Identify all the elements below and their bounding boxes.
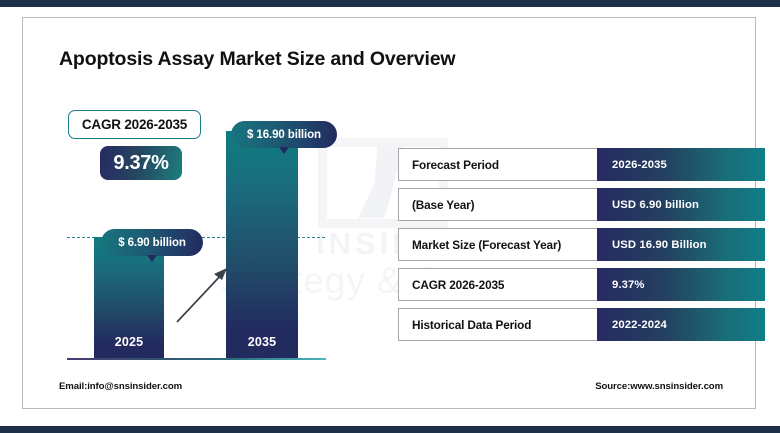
table-cell-value: 2026-2035 xyxy=(597,148,765,181)
market-summary-table: Forecast Period 2026-2035 (Base Year) US… xyxy=(398,148,765,341)
value-pill-2025: $ 6.90 billion xyxy=(101,229,203,256)
value-pill-2035-text: $ 16.90 billion xyxy=(247,129,321,141)
table-cell-label: Forecast Period xyxy=(398,148,597,181)
table-row: Historical Data Period 2022-2024 xyxy=(398,308,765,341)
infographic-card: INSIDER Strategy & Stats Apoptosis Assay… xyxy=(22,17,756,409)
table-cell-value: 9.37% xyxy=(597,268,765,301)
table-cell-value: USD 16.90 Billion xyxy=(597,228,765,261)
table-row: Forecast Period 2026-2035 xyxy=(398,148,765,181)
bar-label-2035: 2035 xyxy=(226,335,298,349)
table-cell-label: Historical Data Period xyxy=(398,308,597,341)
bar-2035: 2035 xyxy=(226,131,298,358)
table-cell-value: USD 6.90 billion xyxy=(597,188,765,221)
value-pill-2035: $ 16.90 billion xyxy=(231,121,337,148)
table-cell-value: 2022-2024 xyxy=(597,308,765,341)
axis-baseline xyxy=(67,358,326,360)
table-cell-label: Market Size (Forecast Year) xyxy=(398,228,597,261)
value-pill-2025-text: $ 6.90 billion xyxy=(118,237,186,249)
table-row: CAGR 2026-2035 9.37% xyxy=(398,268,765,301)
footer-email: Email:info@snsinsider.com xyxy=(59,381,182,392)
growth-arrow-icon xyxy=(173,262,233,326)
bottom-accent-strip xyxy=(0,426,780,433)
table-cell-label: CAGR 2026-2035 xyxy=(398,268,597,301)
bar-label-2025: 2025 xyxy=(94,335,164,349)
table-cell-label: (Base Year) xyxy=(398,188,597,221)
table-row: (Base Year) USD 6.90 billion xyxy=(398,188,765,221)
table-row: Market Size (Forecast Year) USD 16.90 Bi… xyxy=(398,228,765,261)
footer-source: Source:www.snsinsider.com xyxy=(595,381,723,392)
top-accent-strip xyxy=(0,0,780,7)
bar-chart: 2025 2035 $ 6.90 billion $ 16.90 billion xyxy=(23,18,383,410)
